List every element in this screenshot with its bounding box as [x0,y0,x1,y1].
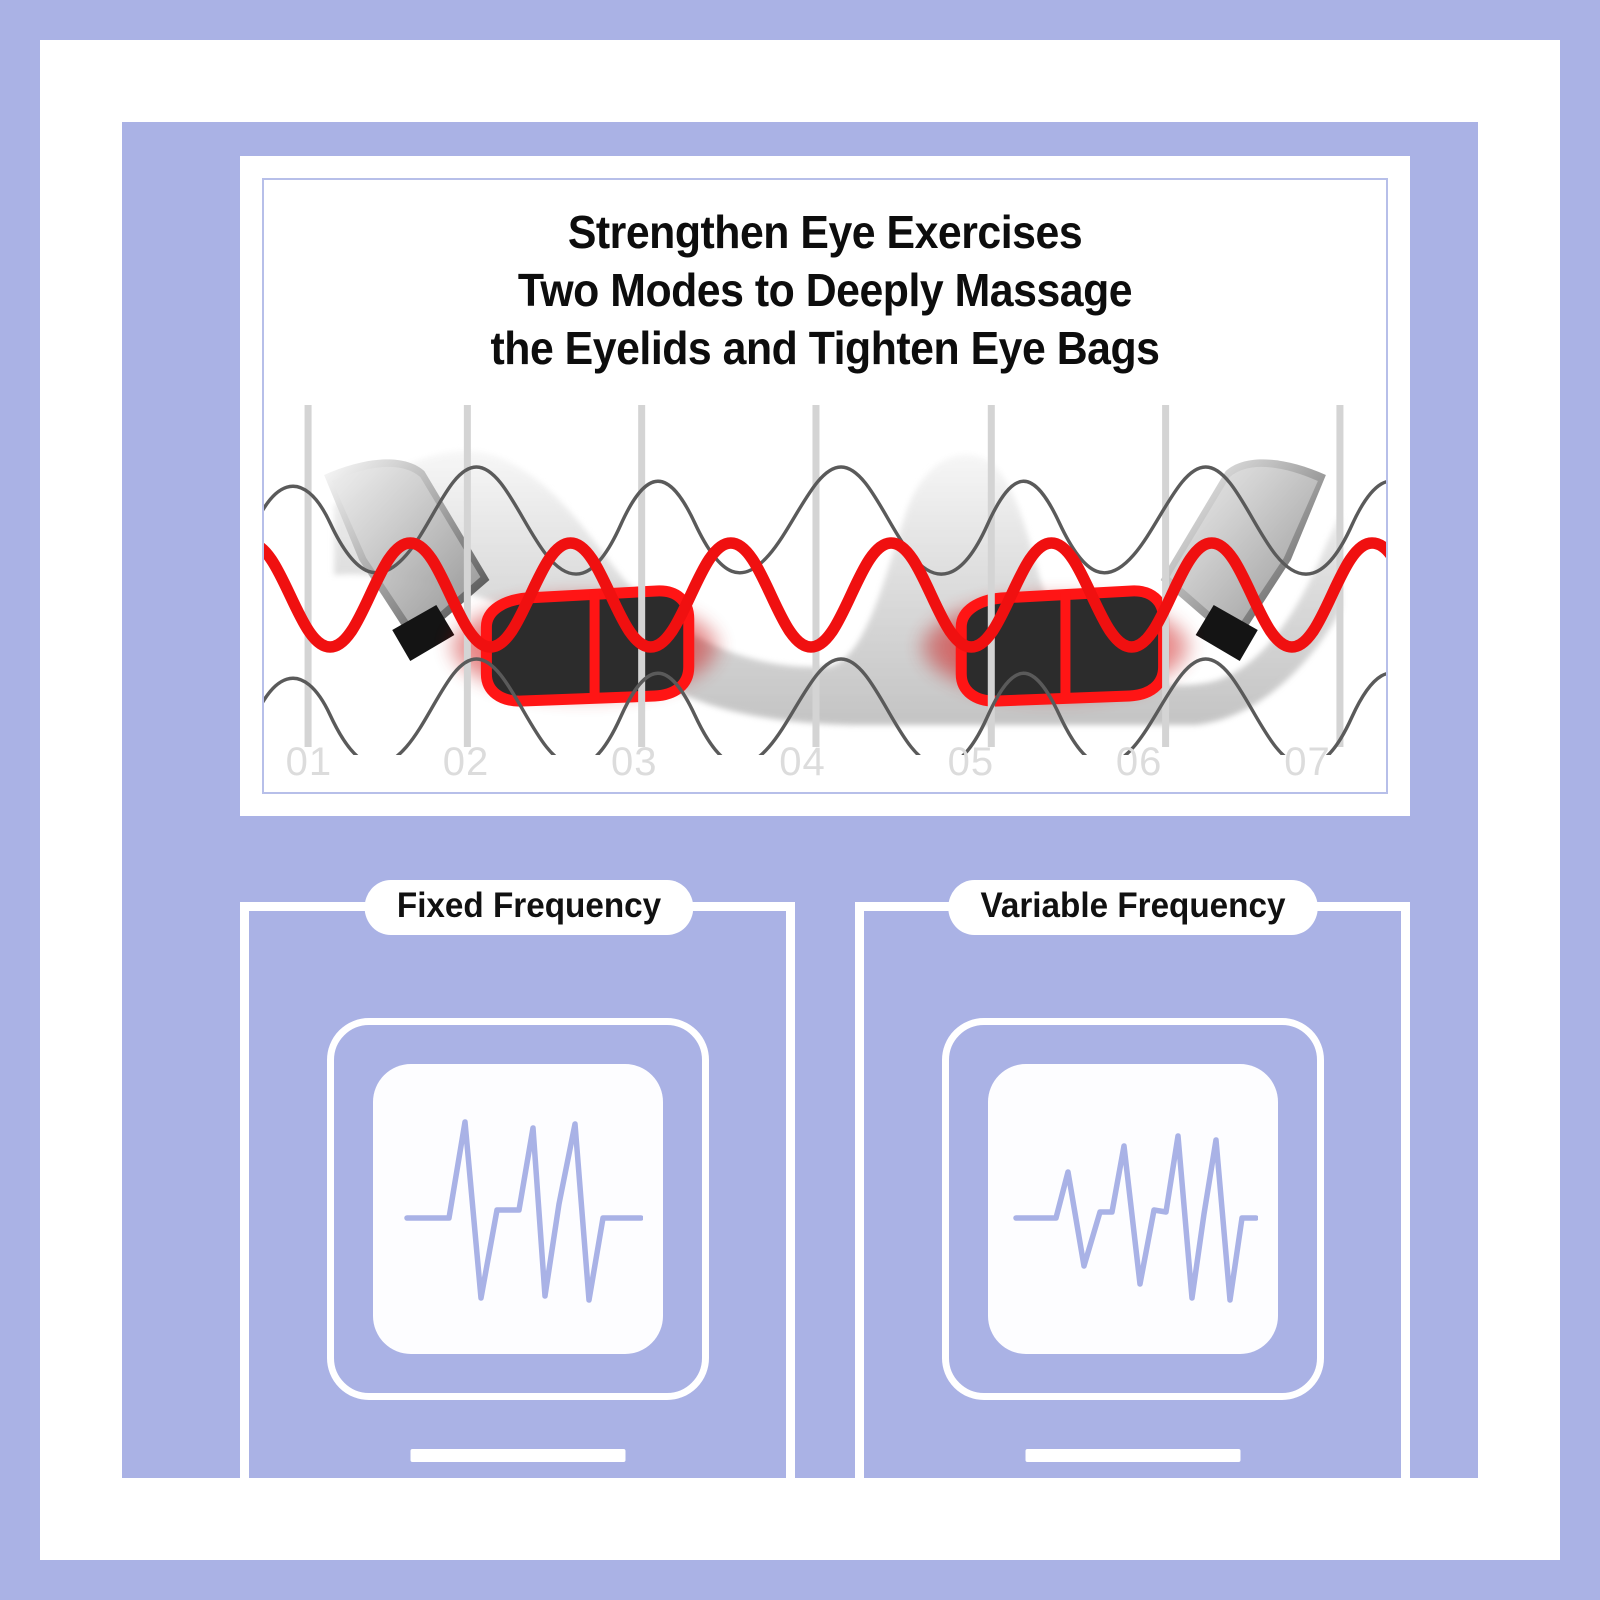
mode-underbar [1025,1449,1240,1462]
waveform-variable-icon [1008,1084,1258,1334]
mode-panels: Fixed Frequency Variable Frequency [240,880,1410,1540]
axis-tick-02: 02 [443,740,490,785]
icon-plate[interactable] [373,1064,663,1354]
icon-plate[interactable] [988,1064,1278,1354]
icon-outline [942,1018,1324,1400]
axis-tick-06: 06 [1116,740,1163,785]
waveform-chart-svg [264,395,1386,755]
axis-tick-07: 07 [1284,740,1331,785]
axis-tick-05: 05 [948,740,995,785]
axis-tick-03: 03 [611,740,658,785]
mode-label-variable-frequency: Variable Frequency [948,880,1318,935]
hero-figure [264,395,1386,755]
inner-stage: Strengthen Eye Exercises Two Modes to De… [122,122,1478,1478]
icon-outline [327,1018,709,1400]
mode-panel-fixed-frequency[interactable]: Fixed Frequency [240,880,795,1540]
axis-tick-04: 04 [779,740,826,785]
outer-white-band: Strengthen Eye Exercises Two Modes to De… [40,40,1560,1560]
mode-panel-variable-frequency[interactable]: Variable Frequency [855,880,1410,1540]
hero-card: Strengthen Eye Exercises Two Modes to De… [240,156,1410,816]
waveform-fixed-icon [393,1084,643,1334]
poster-root: Strengthen Eye Exercises Two Modes to De… [0,0,1600,1600]
axis-tick-01: 01 [286,740,333,785]
page-title: Strengthen Eye Exercises Two Modes to De… [303,204,1346,378]
chart-axis-tick-labels: 01 02 03 04 05 06 07 [264,740,1386,794]
mode-underbar [410,1449,625,1462]
mode-label-fixed-frequency: Fixed Frequency [364,880,693,935]
hero-card-inner: Strengthen Eye Exercises Two Modes to De… [262,178,1388,794]
